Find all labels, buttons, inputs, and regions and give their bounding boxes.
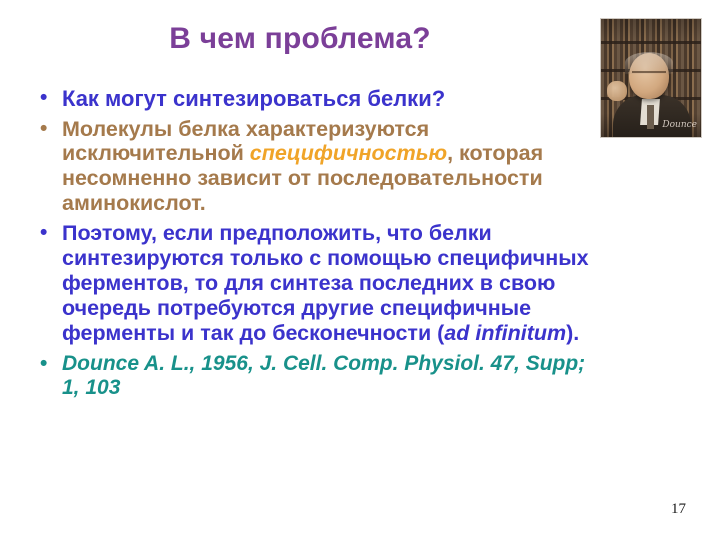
bullet-3-text-part-2: ). [566, 321, 579, 345]
slide-body: • Как могут синтезироваться белки? • Мол… [34, 86, 594, 404]
portrait-tie [647, 105, 654, 129]
bullet-2-accent-word: специфичностью [250, 141, 447, 165]
bullet-marker: • [40, 221, 47, 245]
bullet-marker: • [40, 352, 47, 376]
portrait-signature: Dounce [657, 118, 697, 132]
list-item: • Поэтому, если предположить, что белки … [34, 221, 594, 346]
portrait-hand [607, 81, 627, 101]
bullet-4-citation: Dounce A. L., 1956, J. Cell. Comp. Physi… [62, 352, 585, 399]
portrait-image: Dounce [600, 18, 702, 138]
list-item: • Молекулы белка характеризуются исключи… [34, 117, 594, 217]
bullet-1-text: Как могут синтезироваться белки? [62, 86, 445, 111]
page-title: В чем проблема? [30, 22, 570, 55]
list-item: • Dounce A. L., 1956, J. Cell. Comp. Phy… [34, 352, 594, 401]
page-number: 17 [671, 501, 686, 518]
list-item: • Как могут синтезироваться белки? [34, 86, 594, 112]
shelf-divider [601, 41, 701, 44]
slide: В чем проблема? Dounce • Как могут синте… [0, 0, 720, 540]
bullet-3-italic-phrase: ad infinitum [444, 321, 566, 345]
portrait-glasses [632, 71, 666, 81]
bullet-marker: • [40, 117, 47, 141]
bullet-marker: • [40, 86, 47, 110]
